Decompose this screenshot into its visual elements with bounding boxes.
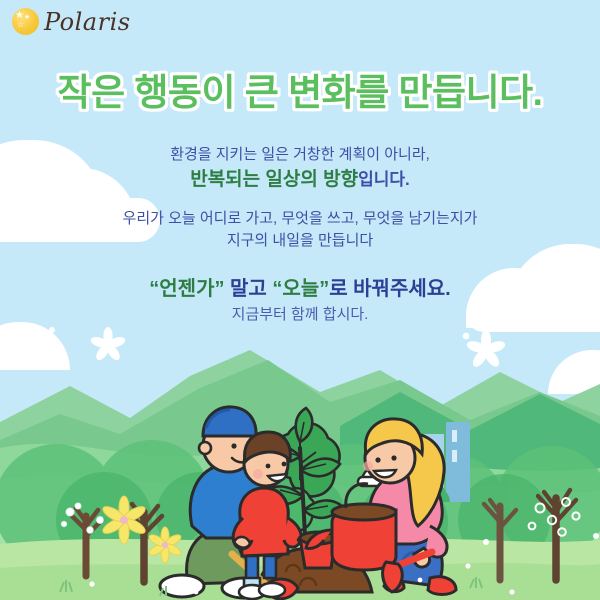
brand-logo[interactable]: ★★☆ Polaris: [12, 8, 131, 35]
family-planting-illustration: [0, 330, 600, 600]
paragraph3-mid: 말고: [224, 278, 272, 300]
paragraph1-highlight: 반복되는 일상의 방향: [190, 169, 358, 190]
paragraph1-line1: 환경을 지키는 일은 거창한 계획이 아니라,: [0, 144, 600, 166]
brand-name: Polaris: [44, 10, 131, 34]
quote-today: “오늘”: [272, 278, 329, 300]
paragraph3-subline: 지금부터 함께 합시다.: [0, 304, 600, 326]
page-title: 작은 행동이 큰 변화를 만듭니다.: [0, 62, 600, 116]
quote-someday: “언젠가”: [149, 278, 224, 300]
paragraph2-line2: 지구의 내일을 만듭니다: [0, 230, 600, 252]
paragraph2-line1: 우리가 오늘 어디로 가고, 무엇을 쓰고, 무엇을 남기는지가: [0, 208, 600, 230]
message-block: 환경을 지키는 일은 거창한 계획이 아니라, 반복되는 일상의 방향입니다. …: [0, 144, 600, 326]
polaris-star-badge-icon: ★★☆: [12, 8, 39, 35]
paragraph1-suffix: 입니다.: [358, 170, 410, 189]
paragraph1-line2: 반복되는 일상의 방향입니다.: [0, 166, 600, 194]
paragraph3-tail: 로 바꿔주세요.: [329, 278, 451, 300]
paragraph3-line1: “언젠가” 말고 “오늘”로 바꿔주세요.: [0, 275, 600, 305]
poster-canvas: ★★☆ Polaris 작은 행동이 큰 변화를 만듭니다. 환경을 지키는 일…: [0, 0, 600, 600]
